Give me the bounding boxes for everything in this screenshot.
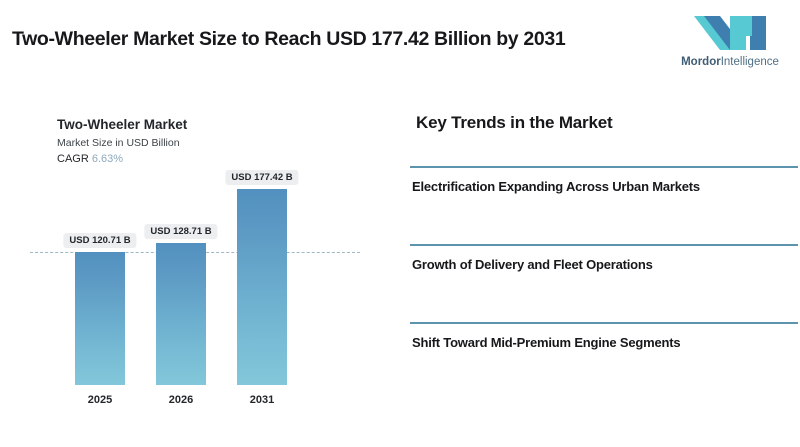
- logo-word-intelligence: Intelligence: [721, 56, 779, 68]
- trend-item-2[interactable]: Growth of Delivery and Fleet Operations: [412, 257, 653, 272]
- x-axis-tick-2025: 2025: [75, 394, 125, 406]
- x-axis-tick-2026: 2026: [156, 394, 206, 406]
- page-header: Two-Wheeler Market Size to Reach USD 177…: [0, 0, 800, 92]
- trend-divider-1: [410, 166, 798, 168]
- bar-value-label-2025: USD 120.71 B: [63, 233, 136, 249]
- bar-value-label-2026: USD 128.71 B: [144, 224, 217, 240]
- chart-panel: Two-Wheeler Market Market Size in USD Bi…: [0, 92, 390, 447]
- key-trends-panel: Key Trends in the Market Electrification…: [398, 92, 800, 447]
- logo-word-mordor: Mordor: [681, 56, 721, 68]
- bar-2026: [156, 243, 206, 385]
- infographic-page: Two-Wheeler Market Size to Reach USD 177…: [0, 0, 800, 447]
- logo-wordmark: MordorIntelligence: [681, 57, 779, 69]
- brand-logo: MordorIntelligence: [674, 12, 786, 80]
- trend-item-1[interactable]: Electrification Expanding Across Urban M…: [412, 179, 700, 194]
- bar-chart-plot: USD 120.71 B2025USD 128.71 B2026USD 177.…: [0, 92, 390, 412]
- trend-divider-3: [410, 322, 798, 324]
- bar-value-label-2031: USD 177.42 B: [225, 170, 298, 186]
- trend-divider-2: [410, 244, 798, 246]
- mordor-intelligence-mark: [690, 12, 770, 54]
- key-trends-title: Key Trends in the Market: [416, 113, 612, 133]
- page-title: Two-Wheeler Market Size to Reach USD 177…: [12, 28, 565, 51]
- bar-2031: [237, 189, 287, 385]
- bar-2025: [75, 252, 125, 385]
- x-axis-tick-2031: 2031: [237, 394, 287, 406]
- trend-item-3[interactable]: Shift Toward Mid-Premium Engine Segments: [412, 335, 680, 350]
